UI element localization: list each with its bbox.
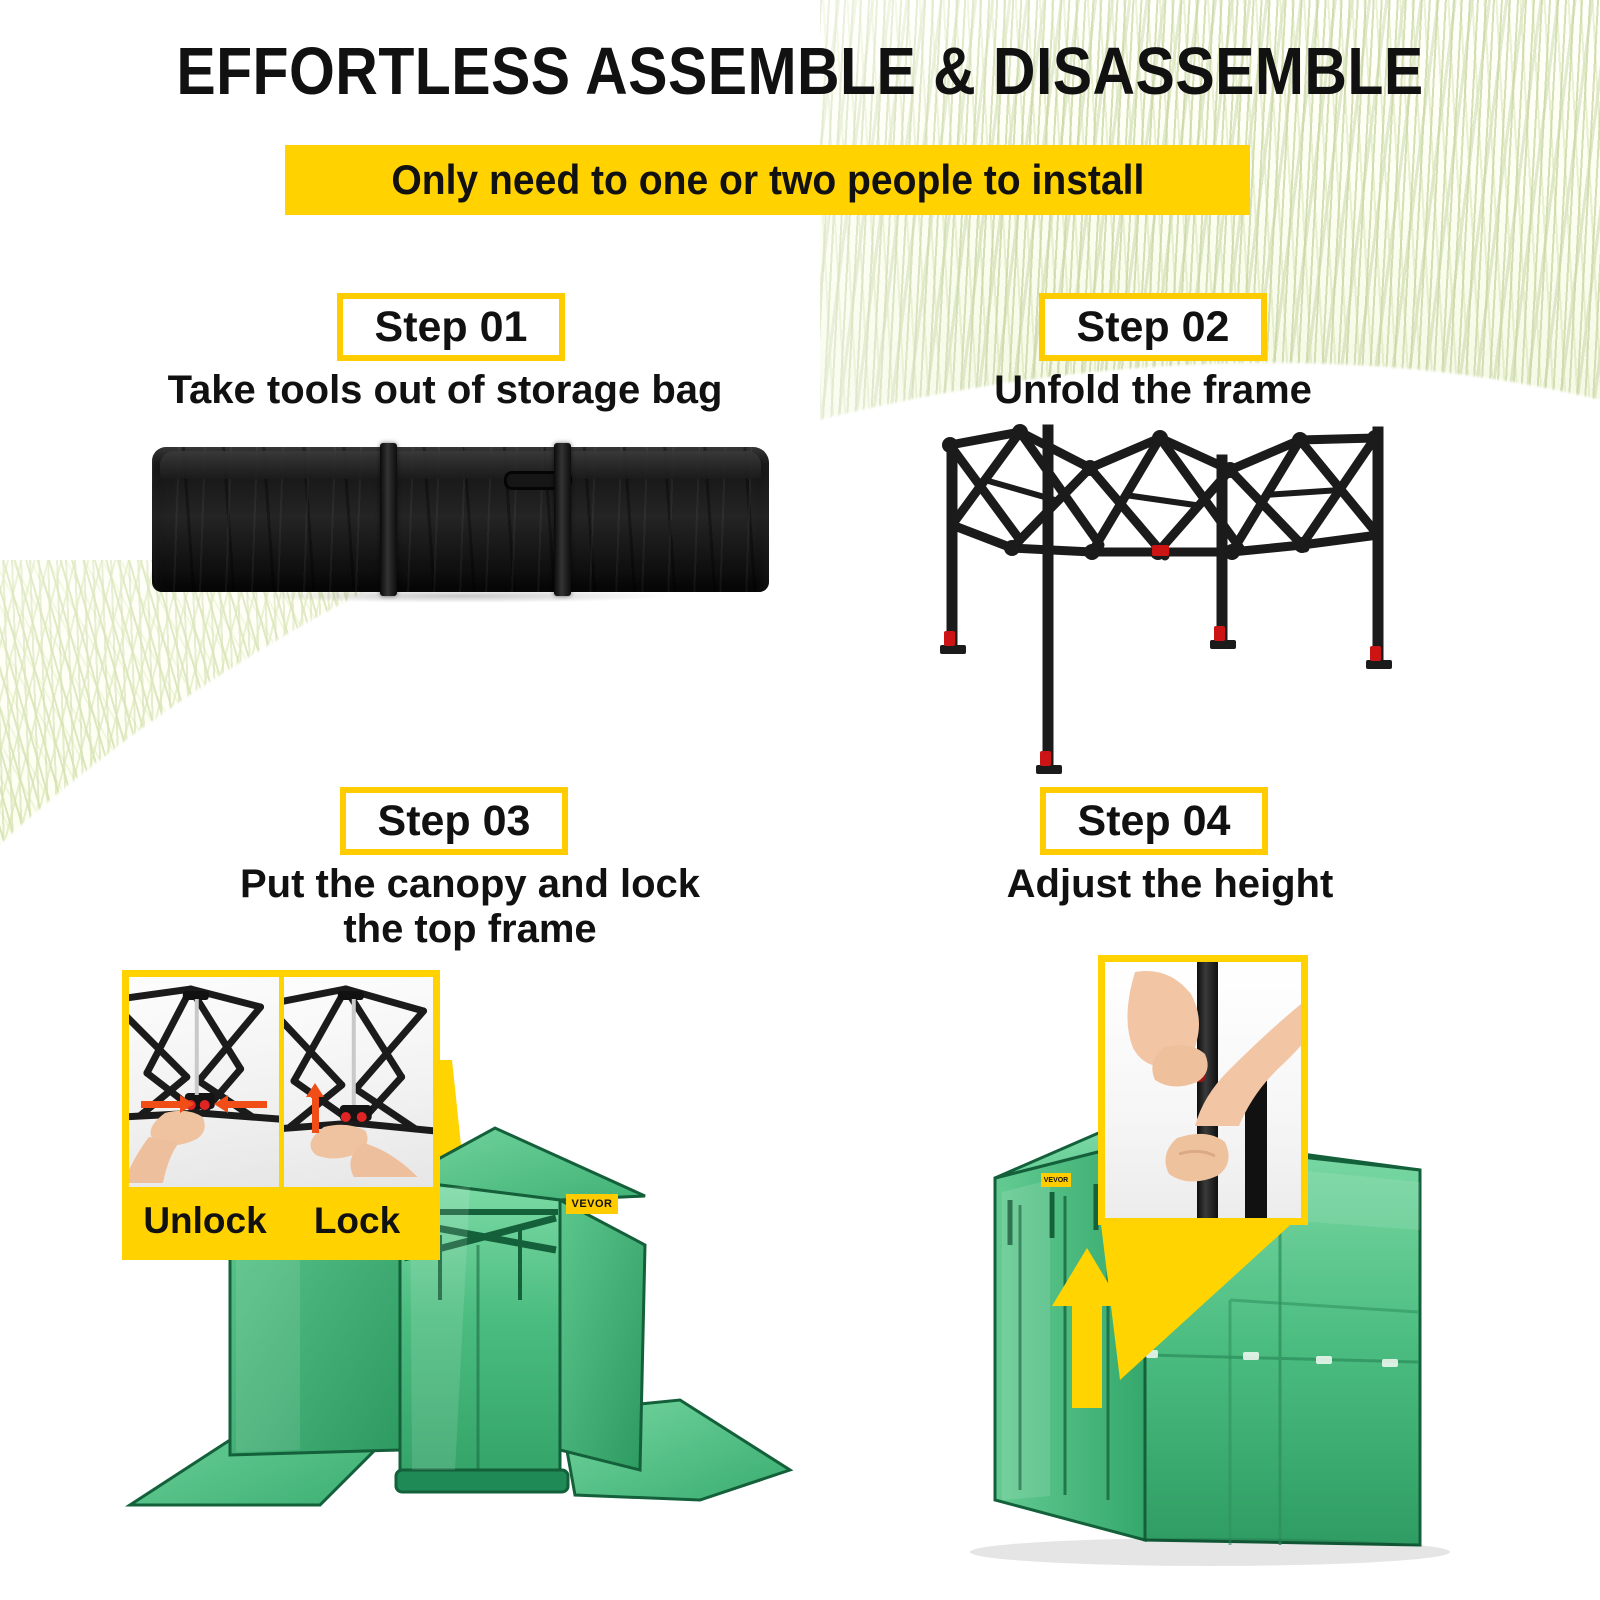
white-base-band bbox=[0, 1230, 1600, 1600]
step-badge-03: Step 03 bbox=[340, 787, 568, 855]
step-caption-01: Take tools out of storage bag bbox=[75, 368, 815, 413]
hands-illustration bbox=[1105, 962, 1308, 1225]
arrow-up-icon bbox=[312, 1095, 319, 1133]
bag-strap-right bbox=[554, 443, 571, 596]
height-adjust-arrow-head-icon bbox=[1052, 1248, 1122, 1306]
lock-label: Lock bbox=[281, 1202, 433, 1239]
lock-unlock-inset-panel: Unlock Lock bbox=[122, 970, 440, 1260]
arrow-left-icon bbox=[227, 1101, 267, 1108]
step-caption-03-line2: the top frame bbox=[150, 907, 790, 952]
storage-bag-image bbox=[152, 447, 769, 592]
unlock-photo bbox=[129, 977, 279, 1189]
unlock-label: Unlock bbox=[129, 1202, 281, 1239]
step-badge-01: Step 01 bbox=[337, 293, 565, 361]
step-caption-04: Adjust the height bbox=[930, 862, 1410, 907]
step-badge-02: Step 02 bbox=[1039, 293, 1267, 361]
bag-top-seam bbox=[160, 451, 761, 479]
height-adjust-arrow-stem-icon bbox=[1072, 1300, 1102, 1408]
height-adjust-inset-panel bbox=[1098, 955, 1308, 1225]
inset-label-band: Unlock Lock bbox=[129, 1187, 433, 1253]
vevor-logo-badge-step-04: VEVOR bbox=[1041, 1173, 1071, 1187]
lock-photo bbox=[279, 977, 434, 1189]
step-caption-02: Unfold the frame bbox=[913, 368, 1393, 413]
page-title: EFFORTLESS ASSEMBLE & DISASSEMBLE bbox=[96, 38, 1504, 105]
vevor-logo-badge-step-03: VEVOR bbox=[566, 1194, 618, 1214]
subtitle-highlight: Only need to one or two people to instal… bbox=[285, 145, 1250, 215]
subtitle-text: Only need to one or two people to instal… bbox=[391, 159, 1144, 201]
step-badge-04: Step 04 bbox=[1040, 787, 1268, 855]
bag-strap-left bbox=[380, 443, 397, 596]
infographic-canvas: EFFORTLESS ASSEMBLE & DISASSEMBLE Only n… bbox=[0, 0, 1600, 1600]
step-caption-03: Put the canopy and lock the top frame bbox=[150, 862, 790, 952]
step-caption-03-line1: Put the canopy and lock bbox=[150, 862, 790, 907]
inset-photo-pair bbox=[129, 977, 433, 1189]
step-badge-03-label: Step 03 bbox=[378, 800, 531, 843]
arrow-right-icon bbox=[141, 1101, 181, 1108]
